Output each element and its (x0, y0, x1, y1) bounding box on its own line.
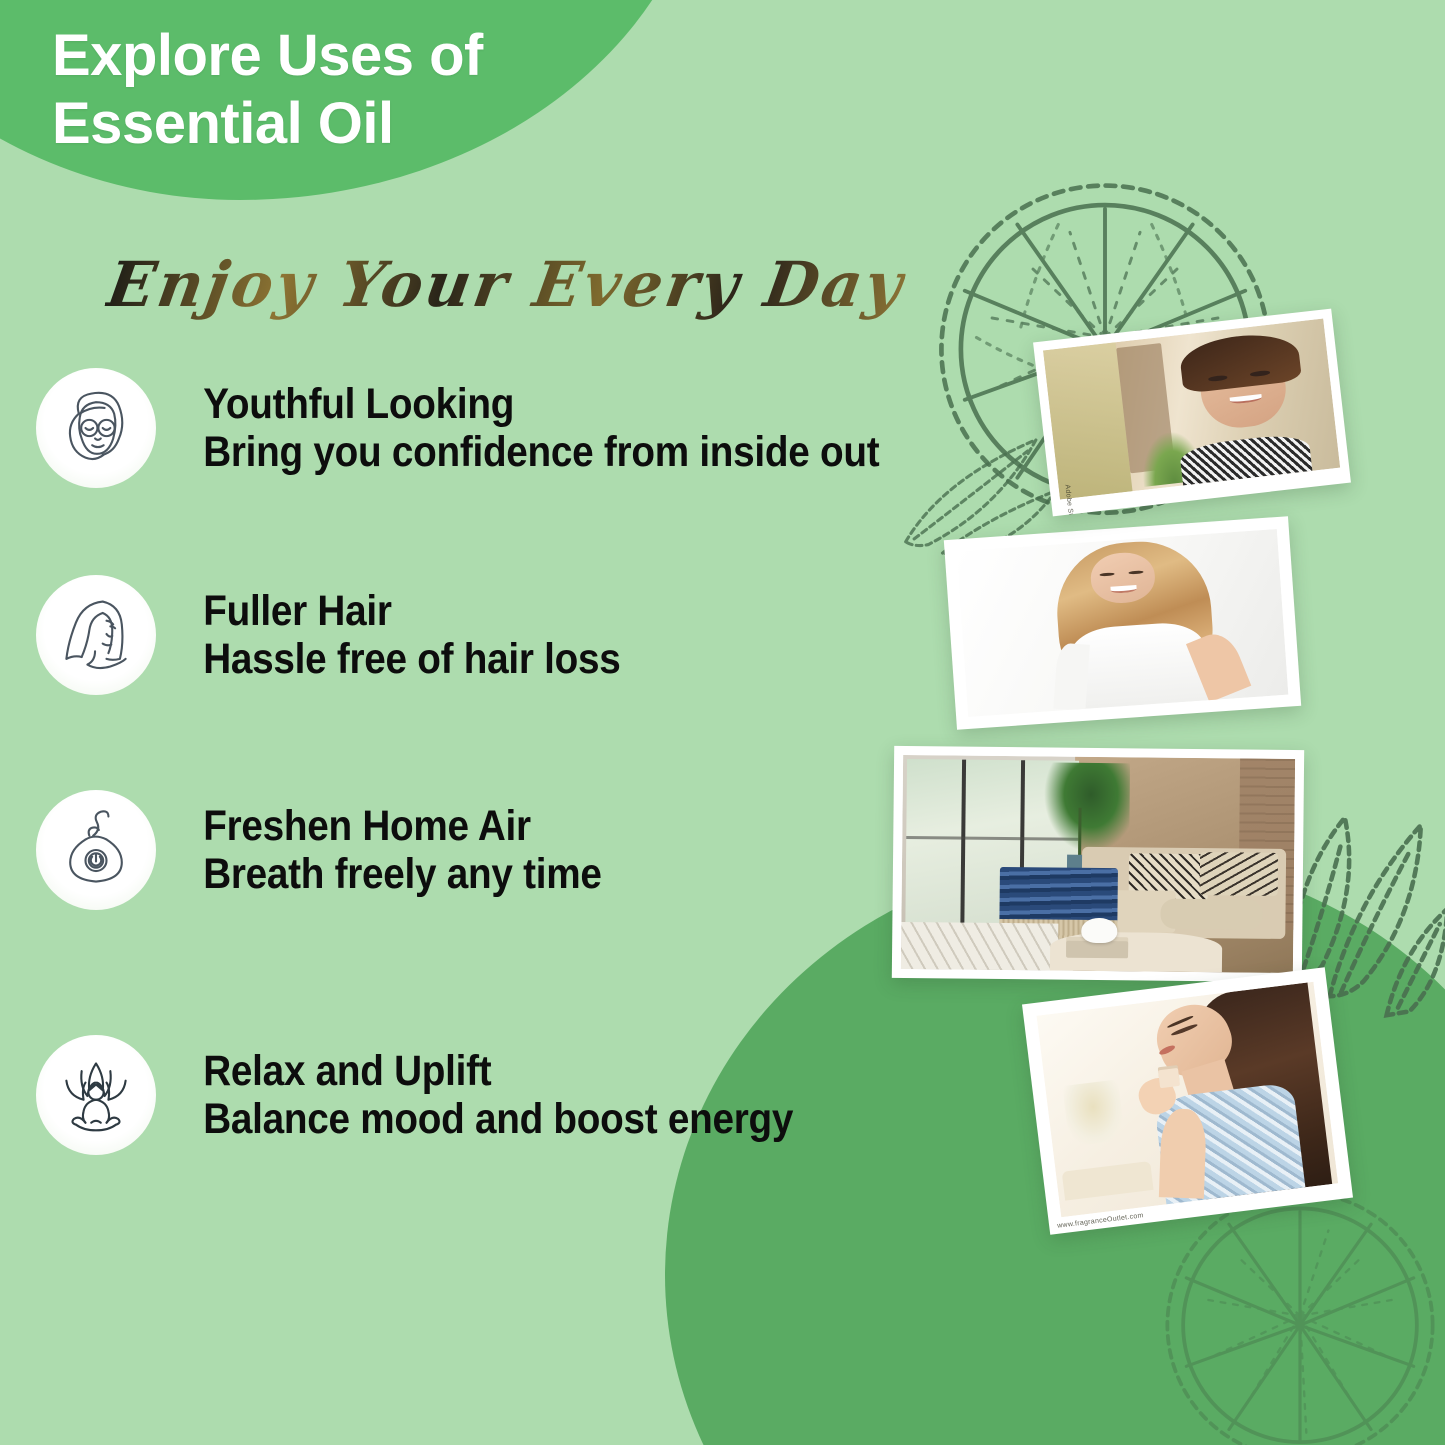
feature-text-block: Freshen Home Air Breath freely any time (178, 802, 602, 898)
feature-subtitle: Balance mood and boost energy (203, 1095, 793, 1143)
feature-title: Relax and Uplift (203, 1047, 793, 1095)
feature-text-block: Relax and Uplift Balance mood and boost … (178, 1047, 793, 1143)
feature-item-freshen-home-air: Freshen Home Air Breath freely any time (36, 790, 649, 910)
photo-cozy-living-room (892, 746, 1304, 982)
photo-smiling-woman-indoors: Adobe Stock | eldaraccount (1033, 309, 1351, 517)
feature-subtitle: Breath freely any time (203, 850, 601, 898)
photo-long-wavy-hair (944, 516, 1301, 730)
feature-text-block: Youthful Looking Bring you confidence fr… (178, 380, 879, 476)
long-hair-profile-icon (36, 575, 156, 695)
feature-subtitle: Bring you confidence from inside out (203, 428, 879, 476)
feature-subtitle: Hassle free of hair loss (203, 635, 620, 683)
feature-item-youthful-looking: Youthful Looking Bring you confidence fr… (36, 368, 957, 488)
poster-canvas: Explore Uses of Essential Oil Enjoy Your… (0, 0, 1445, 1445)
photo-image (1043, 319, 1340, 500)
feature-item-fuller-hair: Fuller Hair Hassle free of hair loss (36, 575, 670, 695)
photo-image (1036, 982, 1338, 1217)
photo-image (957, 529, 1289, 717)
feature-text-block: Fuller Hair Hassle free of hair loss (178, 587, 620, 683)
tagline-script: Enjoy Your Every Day (102, 248, 910, 321)
photo-image (901, 755, 1295, 973)
feature-item-relax-and-uplift: Relax and Uplift Balance mood and boost … (36, 1035, 862, 1155)
feature-title: Youthful Looking (203, 380, 879, 428)
feature-title: Fuller Hair (203, 587, 620, 635)
page-title: Explore Uses of Essential Oil (52, 22, 483, 159)
feature-title: Freshen Home Air (203, 802, 601, 850)
photo-perfume-application: www.fragranceOutlet.com (1022, 967, 1353, 1234)
facial-mask-icon (36, 368, 156, 488)
lotus-meditation-icon (36, 1035, 156, 1155)
aroma-diffuser-icon (36, 790, 156, 910)
